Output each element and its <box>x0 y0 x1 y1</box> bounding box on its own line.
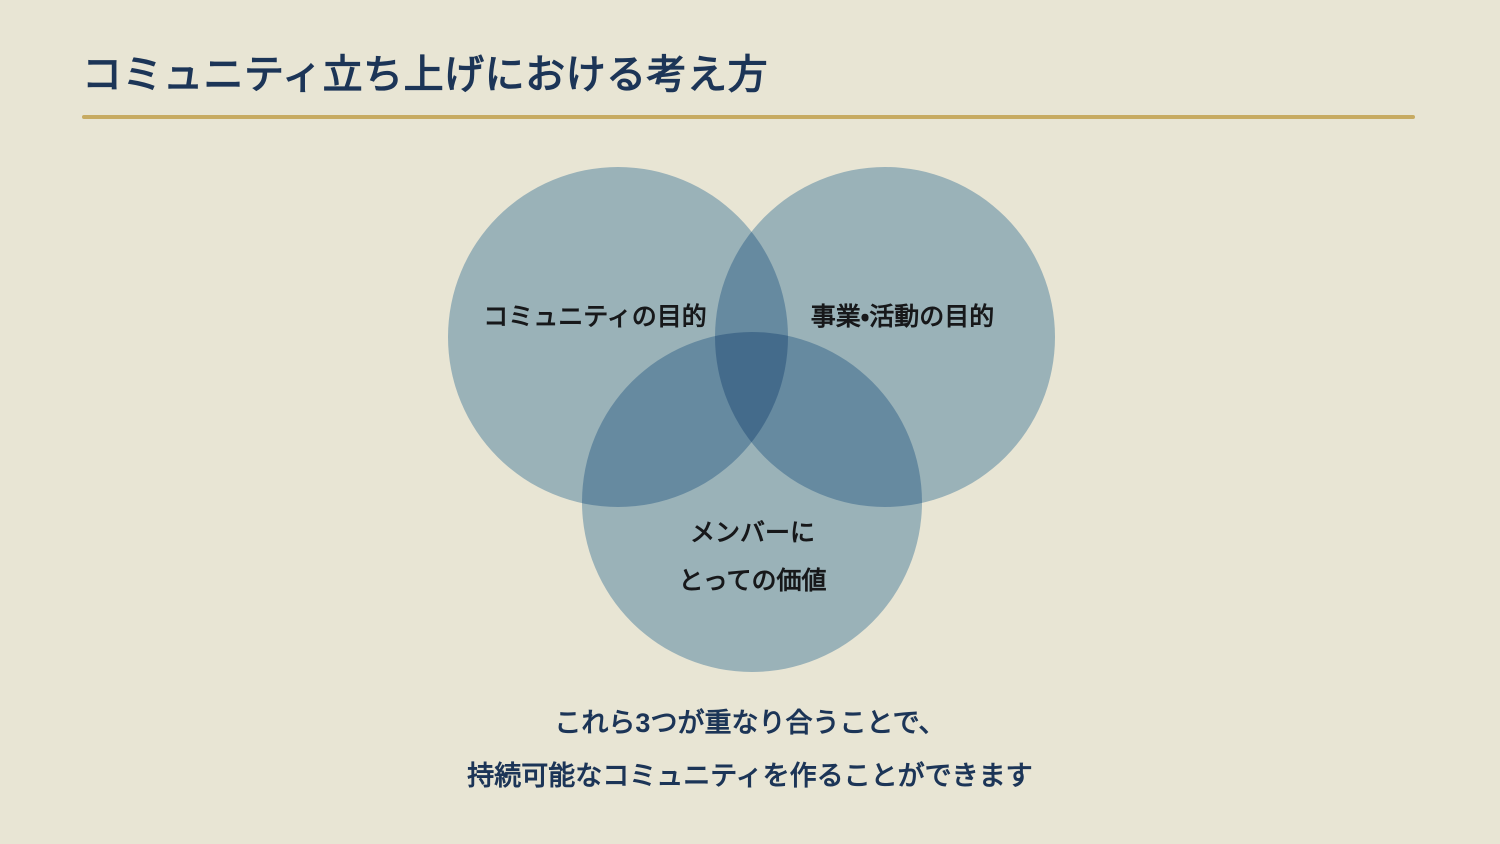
slide-canvas: コミュニティ立ち上げにおける考え方 コミュニティの目的 事業・活動の目的 メンバ… <box>0 0 1500 844</box>
venn-circle-bottom <box>582 332 922 672</box>
summary-caption: これら3つが重なり合うことで、 持続可能なコミュニティを作ることができます <box>0 697 1500 802</box>
summary-caption-line1: これら3つが重なり合うことで、 <box>0 697 1500 750</box>
title-block: コミュニティ立ち上げにおける考え方 <box>82 52 1422 119</box>
venn-diagram: コミュニティの目的 事業・活動の目的 メンバーに とっての価値 <box>440 150 1065 690</box>
summary-caption-line2: 持続可能なコミュニティを作ることができます <box>0 750 1500 803</box>
venn-svg <box>440 150 1065 690</box>
title-underline-rule <box>82 115 1415 119</box>
page-title: コミュニティ立ち上げにおける考え方 <box>82 52 1422 98</box>
